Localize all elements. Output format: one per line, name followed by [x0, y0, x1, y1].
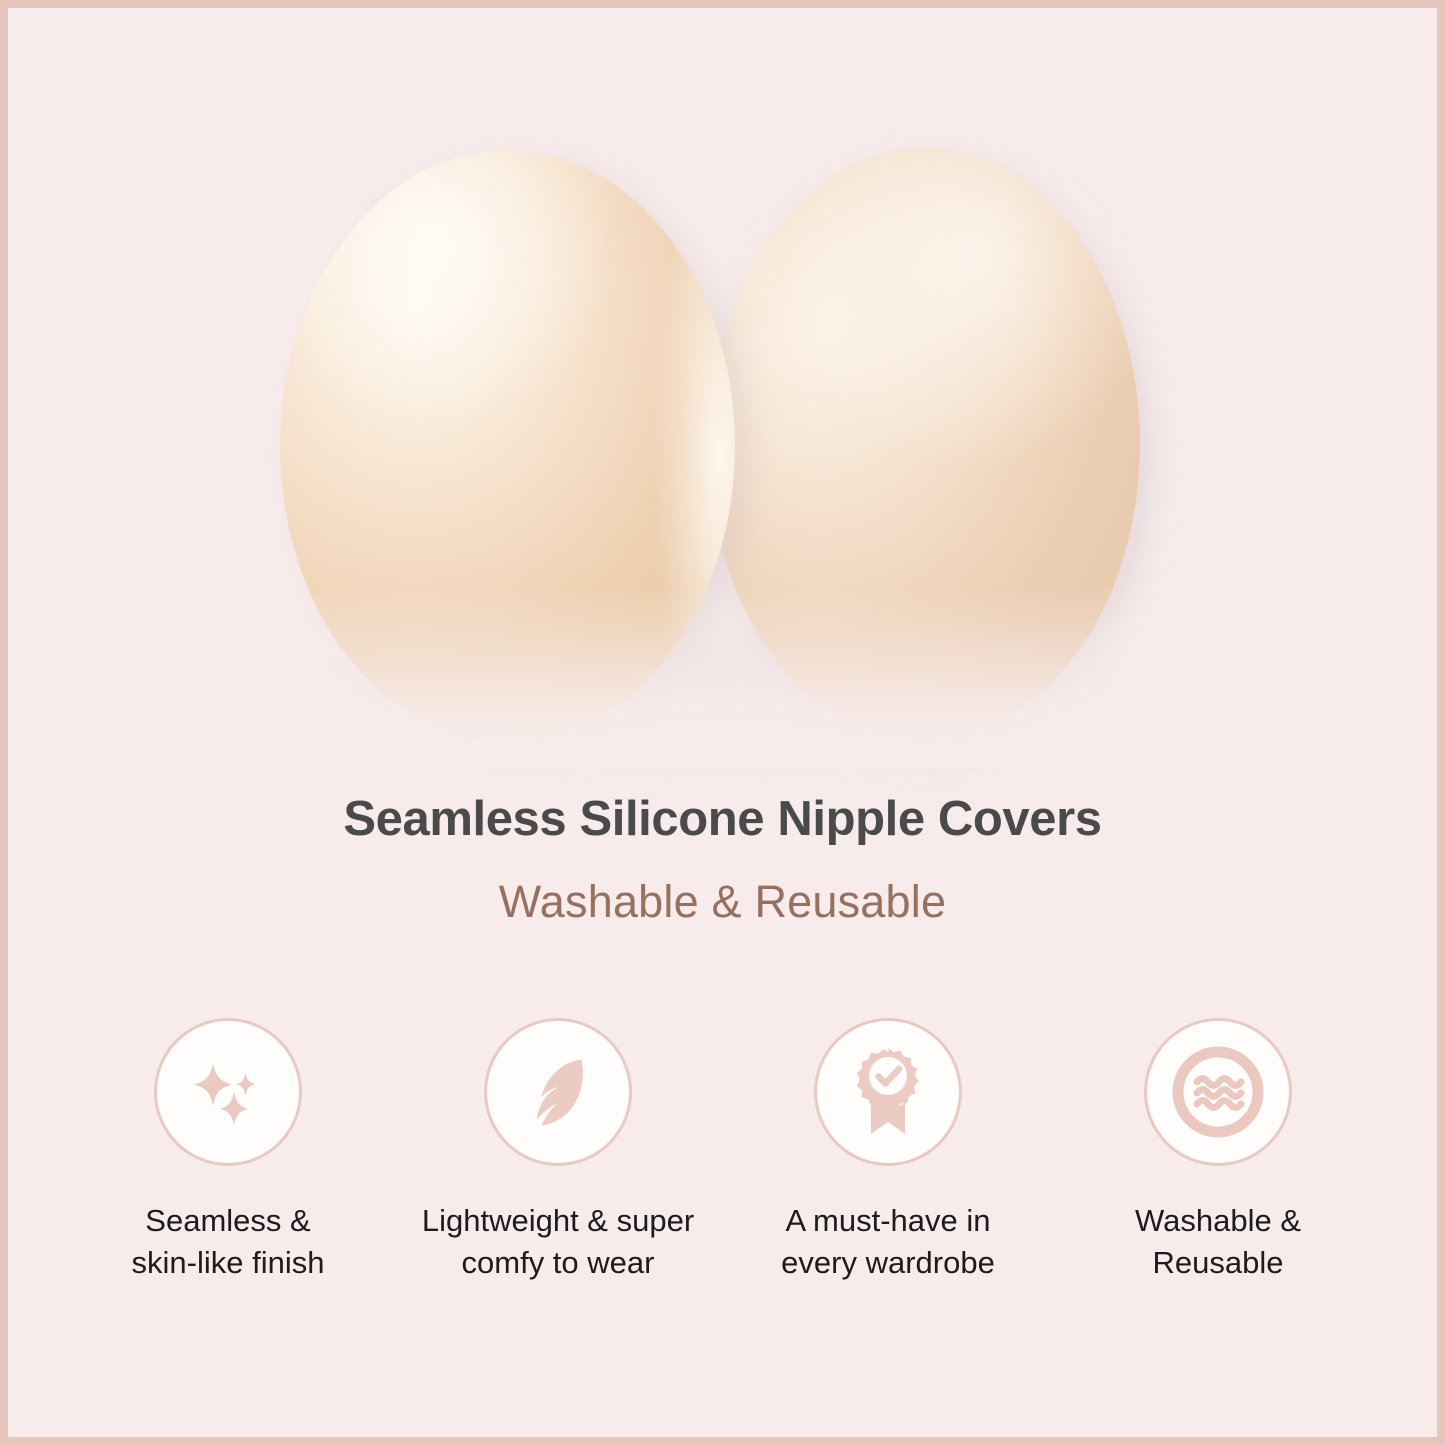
product-hero-image	[8, 8, 1437, 768]
award-badge-icon	[846, 1046, 930, 1138]
page-subtitle: Washable & Reusable	[8, 877, 1437, 927]
feature-item-seamless: Seamless & skin-like finish	[78, 1018, 378, 1284]
feature-item-must-have: A must-have in every wardrobe	[738, 1018, 1038, 1284]
feature-caption: Seamless & skin-like finish	[132, 1200, 325, 1284]
feature-item-washable: Washable & Reusable	[1068, 1018, 1368, 1284]
feature-icon-circle	[814, 1018, 962, 1166]
feature-caption: A must-have in every wardrobe	[781, 1200, 995, 1284]
feature-icon-circle	[484, 1018, 632, 1166]
feature-icon-circle	[154, 1018, 302, 1166]
heading-block: Seamless Silicone Nipple Covers Washable…	[8, 793, 1437, 926]
page-title: Seamless Silicone Nipple Covers	[8, 793, 1437, 847]
washable-waves-icon	[1171, 1045, 1265, 1139]
feature-list: Seamless & skin-like finish Lightweight …	[78, 1018, 1368, 1284]
feature-caption: Washable & Reusable	[1135, 1200, 1301, 1284]
product-poster: Seamless Silicone Nipple Covers Washable…	[0, 0, 1445, 1445]
hero-bottom-fade	[8, 588, 1437, 768]
feature-caption: Lightweight & super comfy to wear	[422, 1200, 694, 1284]
feature-item-lightweight: Lightweight & super comfy to wear	[408, 1018, 708, 1284]
product-stage	[8, 8, 1437, 768]
feature-icon-circle	[1144, 1018, 1292, 1166]
sparkles-icon	[185, 1049, 271, 1135]
feather-icon	[514, 1048, 602, 1136]
